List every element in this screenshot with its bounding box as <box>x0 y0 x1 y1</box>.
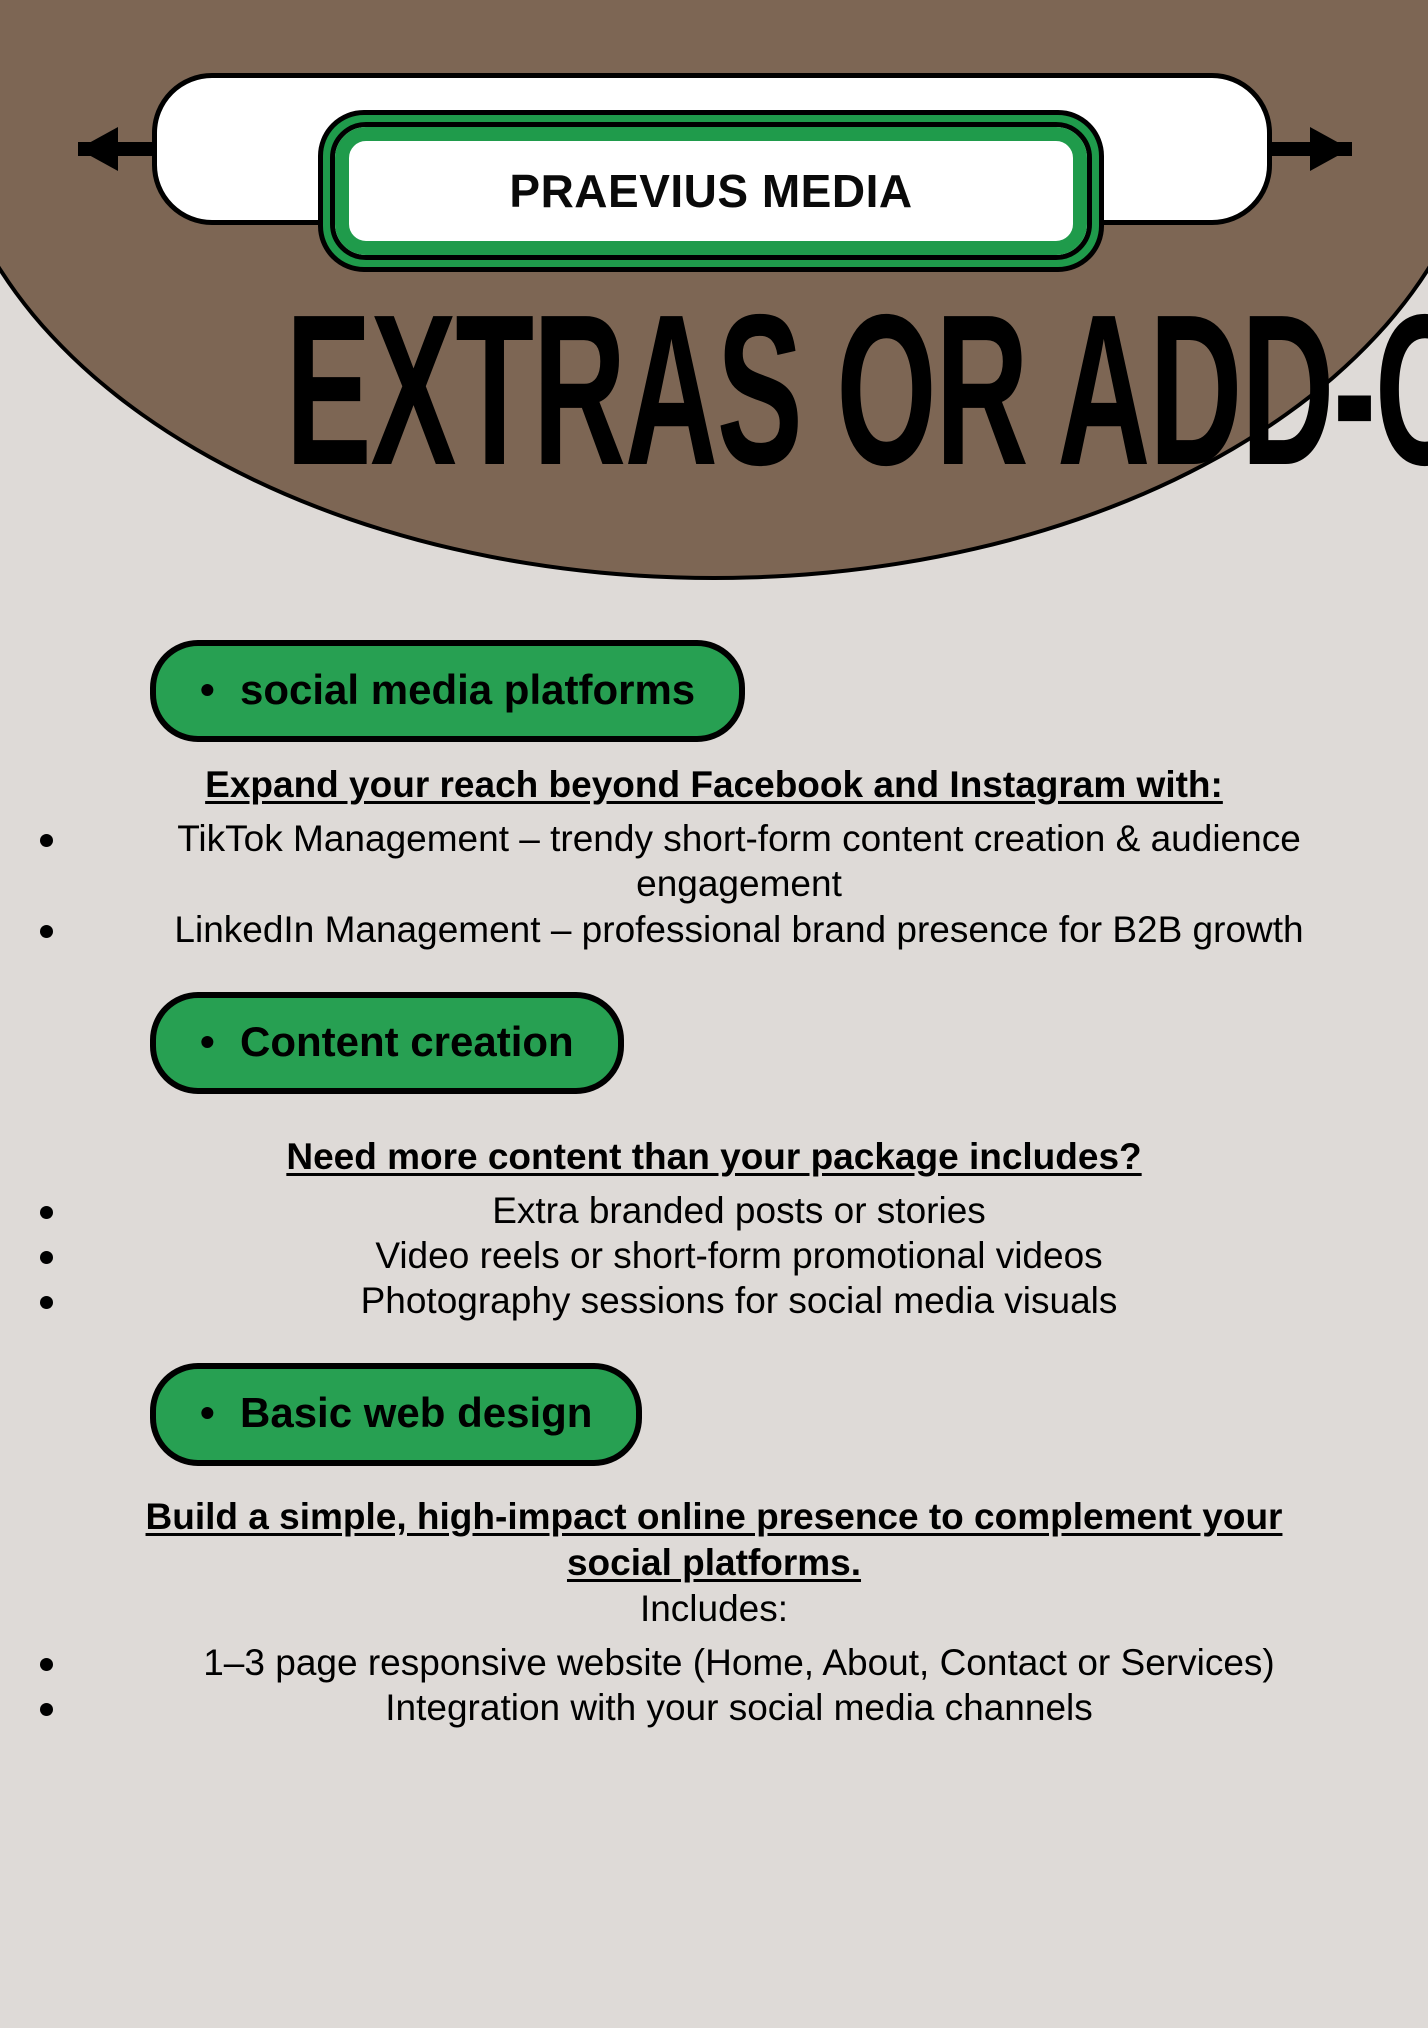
list-item: Photography sessions for social media vi… <box>0 1278 1428 1323</box>
section-lead: Expand your reach beyond Facebook and In… <box>104 762 1324 808</box>
list-item: Video reels or short-form promotional vi… <box>0 1233 1428 1278</box>
section-sub-lead: Includes: <box>104 1586 1324 1632</box>
pill-label: social media platforms <box>240 666 695 713</box>
section-pill-social-media-platforms[interactable]: •social media platforms <box>150 640 745 742</box>
section-social-media-platforms: •social media platforms Expand your reac… <box>0 640 1428 952</box>
pill-bullet-icon: • <box>200 669 240 711</box>
pill-bullet-icon: • <box>200 1021 240 1063</box>
pill-label: Content creation <box>240 1018 574 1065</box>
section-bullet-list: TikTok Management – trendy short-form co… <box>0 816 1428 951</box>
section-basic-web-design: •Basic web design Build a simple, high-i… <box>0 1363 1428 1730</box>
section-lead: Build a simple, high-impact online prese… <box>104 1494 1324 1587</box>
brand-plate: PRAEVIUS MEDIA <box>0 0 1428 260</box>
page-title: EXTRAS OR ADD-ON <box>286 290 1143 490</box>
pill-bullet-icon: • <box>200 1392 240 1434</box>
list-item: LinkedIn Management – professional brand… <box>0 907 1428 952</box>
brand-name: PRAEVIUS MEDIA <box>509 164 912 218</box>
pill-label: Basic web design <box>240 1389 592 1436</box>
brand-plate-inner: PRAEVIUS MEDIA <box>330 122 1092 260</box>
section-content-creation: •Content creation Need more content than… <box>0 992 1428 1324</box>
list-item: TikTok Management – trendy short-form co… <box>0 816 1428 906</box>
list-item: 1–3 page responsive website (Home, About… <box>0 1640 1428 1685</box>
section-pill-content-creation[interactable]: •Content creation <box>150 992 624 1094</box>
section-pill-basic-web-design[interactable]: •Basic web design <box>150 1363 642 1465</box>
arrow-right-icon <box>1310 127 1350 171</box>
list-item: Extra branded posts or stories <box>0 1188 1428 1233</box>
section-lead: Need more content than your package incl… <box>104 1134 1324 1180</box>
list-item: Integration with your social media chann… <box>0 1685 1428 1730</box>
content-column: •social media platforms Expand your reac… <box>0 640 1428 1731</box>
arrow-left-icon <box>78 127 118 171</box>
section-bullet-list: 1–3 page responsive website (Home, About… <box>0 1640 1428 1730</box>
section-bullet-list: Extra branded posts or stories Video ree… <box>0 1188 1428 1323</box>
